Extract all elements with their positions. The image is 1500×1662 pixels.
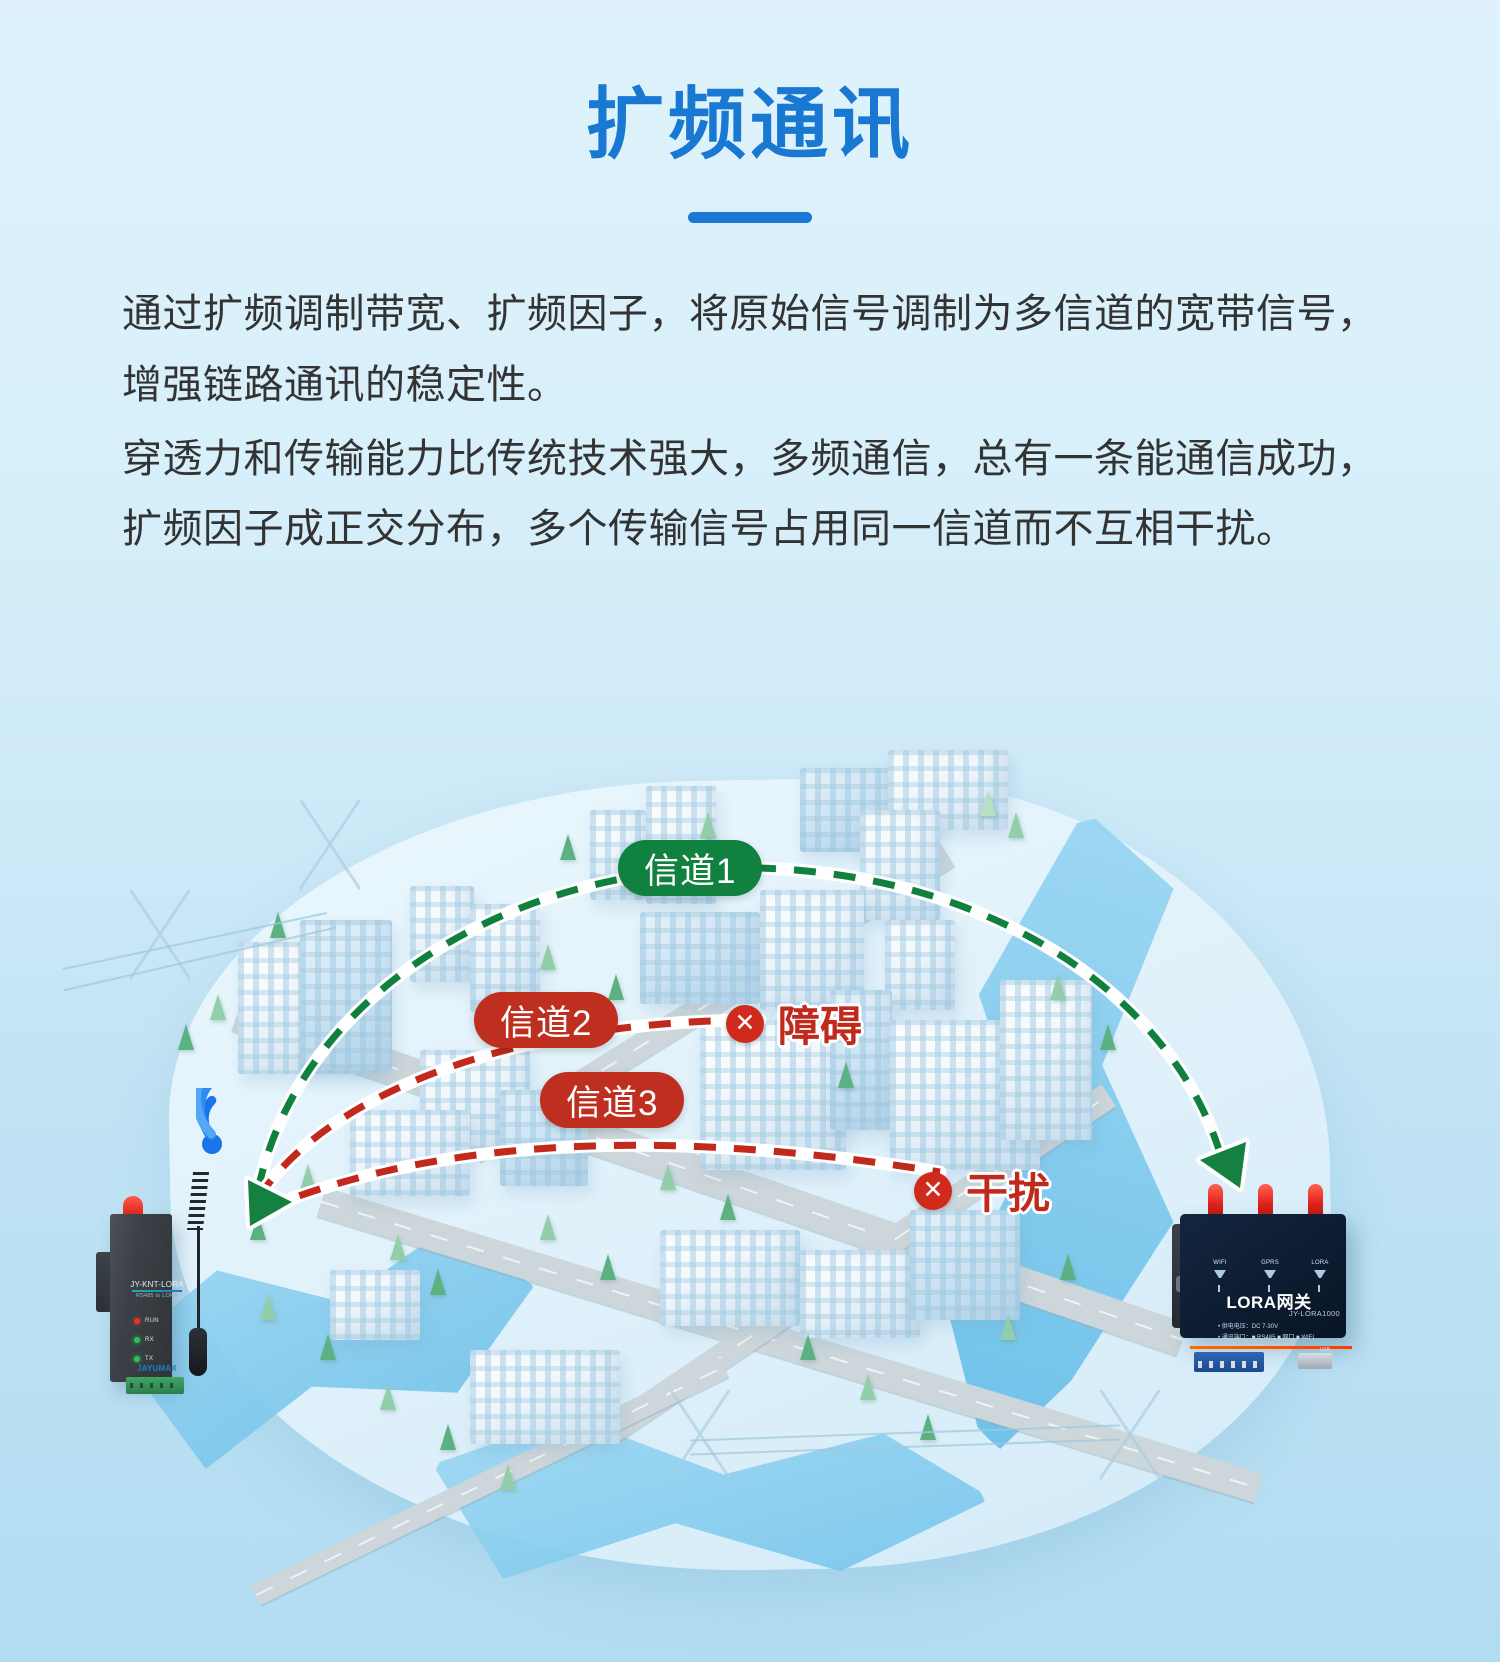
led-run-label: RUN <box>145 1318 159 1324</box>
paragraph-2: 穿透力和传输能力比传统技术强大，多频通信，总有一条能通信成功，扩频因子成正交分布… <box>122 424 1382 565</box>
signal-paths <box>0 690 1500 1662</box>
gateway-body: WIFI GPRS LORA LORA网关 JY-LORA1000 • 供电电压… <box>1180 1214 1346 1338</box>
port-label-gprs: GPRS <box>1250 1260 1290 1266</box>
spec-ports-1: • 通讯端口：■ RS485 ■ 网口 ■ WIFI <box>1218 1333 1314 1344</box>
spec-voltage: • 供电电压：DC 7-30V <box>1218 1322 1314 1333</box>
x-circle-icon: ✕ <box>726 1005 764 1043</box>
led-tx: TX <box>134 1356 159 1362</box>
antenna-glyph-icon <box>1264 1270 1276 1280</box>
antenna-glyph-icon <box>1214 1270 1226 1280</box>
obstacle-label: 障碍 <box>778 993 862 1054</box>
isometric-city-illustration: 信道1 信道2 信道3 ✕ 障碍 ✕ 干扰 <box>0 690 1500 1662</box>
led-indicator-icon <box>134 1318 140 1324</box>
led-indicator-icon <box>134 1356 140 1362</box>
channel-1-badge[interactable]: 信道1 <box>618 840 762 896</box>
led-indicator-icon <box>134 1337 140 1343</box>
lora-transmitter-device[interactable]: JY-KNT-LORA RS485 to LORA RUN RX TX JAYU… <box>96 1196 178 1382</box>
x-circle-icon: ✕ <box>914 1172 952 1210</box>
led-tx-label: TX <box>145 1356 153 1362</box>
port-label-wifi: WIFI <box>1200 1260 1240 1266</box>
wifi-signal-icon <box>196 1088 274 1158</box>
page-title: 扩频通讯 <box>0 82 1500 166</box>
page-header: 扩频通讯 <box>0 0 1500 223</box>
led-rx-label: RX <box>145 1337 154 1343</box>
channel-3-path-outline <box>262 1145 940 1210</box>
channel-3-badge[interactable]: 信道3 <box>540 1072 684 1128</box>
gateway-terminal-block <box>1194 1352 1264 1372</box>
antenna-coil <box>187 1172 209 1230</box>
transmitter-body: JY-KNT-LORA RS485 to LORA RUN RX TX JAYU… <box>110 1214 172 1382</box>
interference-marker[interactable]: ✕ 干扰 <box>914 1160 1050 1221</box>
obstacle-marker[interactable]: ✕ 障碍 <box>726 993 862 1054</box>
antenna-glyph-icon <box>1314 1270 1326 1280</box>
led-rx: RX <box>134 1337 159 1343</box>
title-divider <box>688 212 812 223</box>
description-block: 通过扩频调制带宽、扩频因子，将原始信号调制为多信道的宽带信号，增强链路通讯的稳定… <box>0 279 1500 565</box>
port-label-lora: LORA <box>1300 1260 1340 1266</box>
transmitter-accent-bar <box>132 1290 182 1292</box>
led-run: RUN <box>134 1318 159 1324</box>
antenna-magnetic-base <box>189 1328 207 1376</box>
lora-gateway-device[interactable]: WIFI GPRS LORA LORA网关 JY-LORA1000 • 供电电压… <box>1172 1178 1356 1358</box>
channel-2-badge[interactable]: 信道2 <box>474 992 618 1048</box>
usb-port <box>1298 1353 1332 1369</box>
interference-label: 干扰 <box>966 1160 1050 1221</box>
whip-antenna <box>176 1172 222 1382</box>
gateway-model-label: JY-LORA1000 <box>1194 1309 1344 1318</box>
paragraph-1: 通过扩频调制带宽、扩频因子，将原始信号调制为多信道的宽带信号，增强链路通讯的稳定… <box>122 279 1382 420</box>
antenna-rod <box>197 1226 200 1334</box>
